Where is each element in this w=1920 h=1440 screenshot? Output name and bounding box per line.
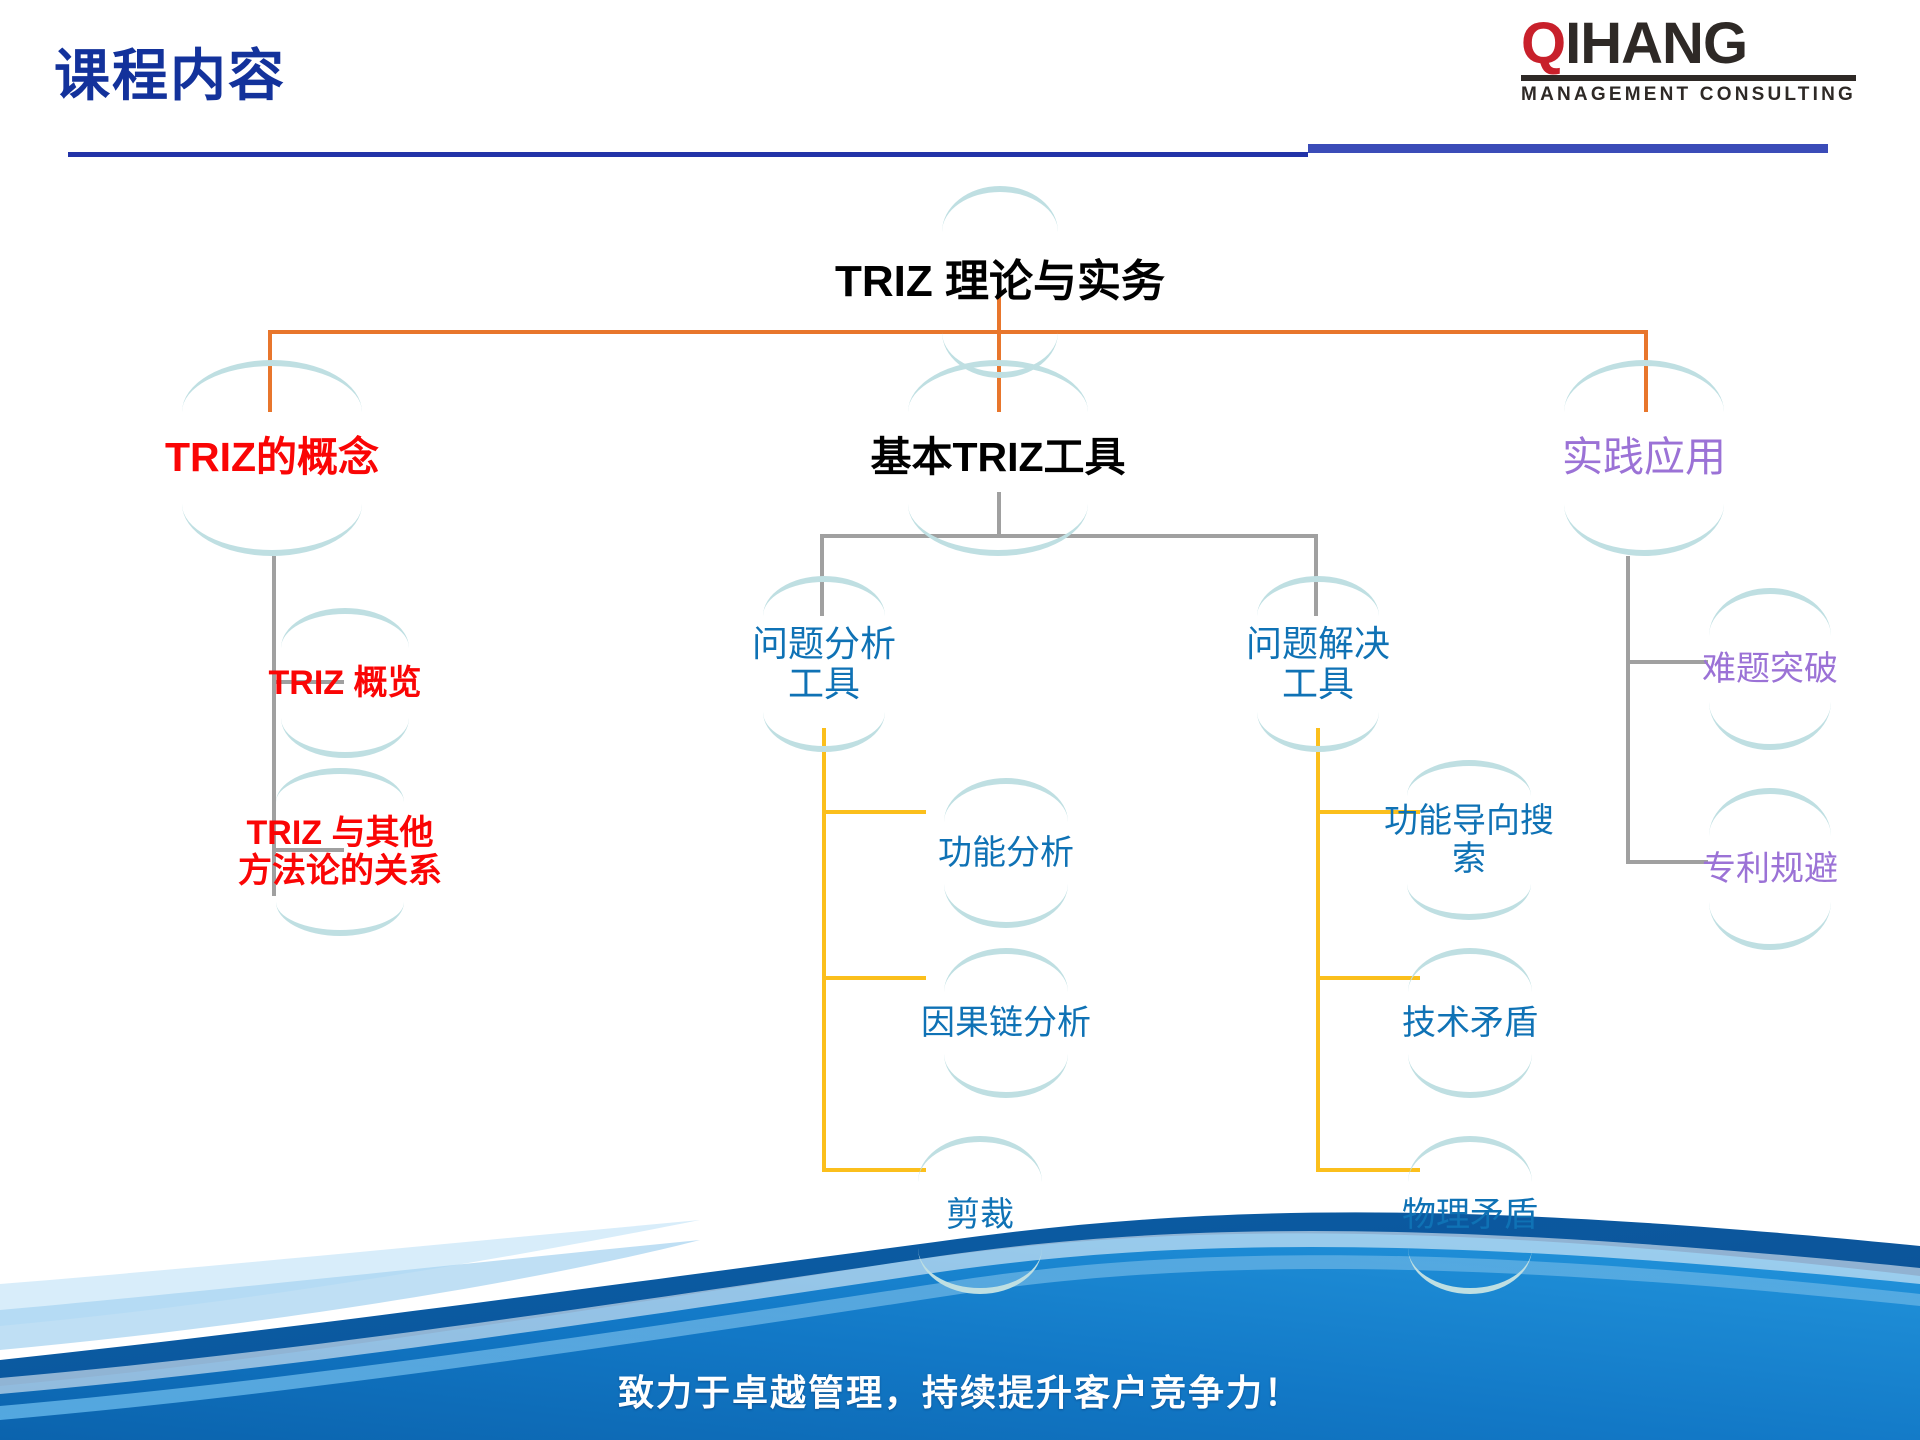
arc-top-icon (1709, 588, 1831, 636)
node-practice-application[interactable]: 实践应用 (1472, 412, 1816, 504)
node-problem-analysis-tools-label: 问题分析 工具 (752, 624, 896, 705)
arc-top-icon (276, 768, 404, 802)
connector-drop-practice (1644, 330, 1648, 412)
node-problem-solving-tools[interactable]: 问题解决 工具 (1194, 612, 1442, 716)
node-triz-concepts[interactable]: TRIZ的概念 (80, 412, 464, 504)
node-technical-contradiction-label: 技术矛盾 (1402, 1004, 1538, 1042)
node-function-oriented-search[interactable]: 功能导向搜 索 (1354, 790, 1584, 890)
node-cause-effect-chain-analysis[interactable]: 因果链分析 (860, 990, 1152, 1056)
arc-bottom-icon (1408, 1054, 1532, 1098)
connector-tools-bus (820, 534, 1318, 538)
node-function-analysis[interactable]: 功能分析 (880, 820, 1132, 886)
arc-bottom-icon (276, 902, 404, 936)
node-function-analysis-label: 功能分析 (938, 834, 1074, 872)
arc-bottom-icon (1564, 504, 1724, 556)
logo-subtitle: MANAGEMENT CONSULTING (1521, 84, 1856, 106)
node-physical-contradiction[interactable]: 物理矛盾 (1360, 1182, 1580, 1248)
footer-slogan: 致力于卓越管理，持续提升客户竞争力！ (0, 1364, 1920, 1416)
node-difficult-problem-breakthrough-label: 难题突破 (1702, 650, 1838, 688)
connector-tools-drop-analysis (820, 534, 824, 616)
node-trimming[interactable]: 剪裁 (890, 1182, 1070, 1248)
connector-drop-concepts (268, 330, 272, 412)
title-underline (68, 152, 1308, 157)
connector-practice-spine (1626, 556, 1630, 864)
qihang-logo: QIHANG MANAGEMENT CONSULTING (1521, 16, 1856, 106)
arc-bottom-icon (944, 1054, 1068, 1098)
arc-top-icon (944, 948, 1068, 992)
node-triz-concepts-label: TRIZ的概念 (165, 435, 379, 481)
page-title: 课程内容 (54, 48, 286, 104)
connector-drop-tools (997, 330, 1001, 412)
node-cause-effect-chain-analysis-label: 因果链分析 (921, 1004, 1091, 1042)
node-patent-circumvention-label: 专利规避 (1702, 850, 1838, 888)
node-trimming-label: 剪裁 (946, 1196, 1014, 1234)
arc-top-icon (1408, 1136, 1532, 1182)
connector-analysis-stub-1 (822, 810, 926, 814)
arc-top-icon (763, 576, 885, 616)
logo-wordmark: QIHANG (1521, 16, 1856, 71)
logo-letters-ihang: IHANG (1565, 11, 1747, 76)
connector-analysis-stub-3 (822, 1168, 926, 1172)
title-underline-right (1308, 144, 1828, 153)
node-root-label: TRIZ 理论与实务 (835, 257, 1165, 306)
connector-solving-spine (1316, 728, 1320, 1172)
node-technical-contradiction[interactable]: 技术矛盾 (1360, 990, 1580, 1056)
connector-analysis-stub-2 (822, 976, 926, 980)
connector-tools-drop-solving (1314, 534, 1318, 616)
connector-analysis-spine (822, 728, 826, 1172)
node-basic-triz-tools[interactable]: 基本TRIZ工具 (800, 412, 1196, 504)
node-practice-application-label: 实践应用 (1562, 435, 1726, 481)
arc-bottom-icon (1407, 884, 1531, 920)
arc-bottom-icon (1709, 702, 1831, 750)
arc-top-icon (918, 1136, 1042, 1182)
arc-top-icon (281, 608, 409, 648)
connector-solving-stub-3 (1316, 1168, 1420, 1172)
node-triz-overview-label: TRIZ 概览 (269, 664, 422, 702)
arc-bottom-icon (182, 504, 362, 556)
arc-top-icon (1408, 948, 1532, 992)
logo-letter-q: Q (1521, 11, 1565, 76)
arc-top-icon (944, 778, 1068, 822)
connector-solving-stub-2 (1316, 976, 1420, 980)
arc-top-icon (942, 186, 1058, 232)
arc-top-icon (1709, 788, 1831, 836)
node-problem-solving-tools-label: 问题解决 工具 (1246, 624, 1390, 705)
node-basic-triz-tools-label: 基本TRIZ工具 (870, 435, 1125, 481)
node-function-oriented-search-label: 功能导向搜 索 (1384, 802, 1554, 878)
node-root[interactable]: TRIZ 理论与实务 (700, 232, 1300, 332)
node-difficult-problem-breakthrough[interactable]: 难题突破 (1660, 636, 1880, 702)
arc-bottom-icon (281, 718, 409, 758)
arc-top-icon (1407, 760, 1531, 796)
node-triz-vs-other-methods[interactable]: TRIZ 与其他 方法论的关系 (180, 800, 500, 904)
node-triz-vs-other-methods-label: TRIZ 与其他 方法论的关系 (238, 814, 442, 890)
arc-top-icon (182, 360, 362, 412)
node-patent-circumvention[interactable]: 专利规避 (1660, 836, 1880, 902)
arc-bottom-icon (944, 884, 1068, 928)
node-triz-overview[interactable]: TRIZ 概览 (200, 648, 490, 718)
arc-top-icon (1257, 576, 1379, 616)
slide-canvas: 课程内容 QIHANG MANAGEMENT CONSULTING TRIZ 理… (0, 0, 1920, 1440)
node-physical-contradiction-label: 物理矛盾 (1402, 1196, 1538, 1234)
node-problem-analysis-tools[interactable]: 问题分析 工具 (700, 612, 948, 716)
arc-bottom-icon (1709, 902, 1831, 950)
